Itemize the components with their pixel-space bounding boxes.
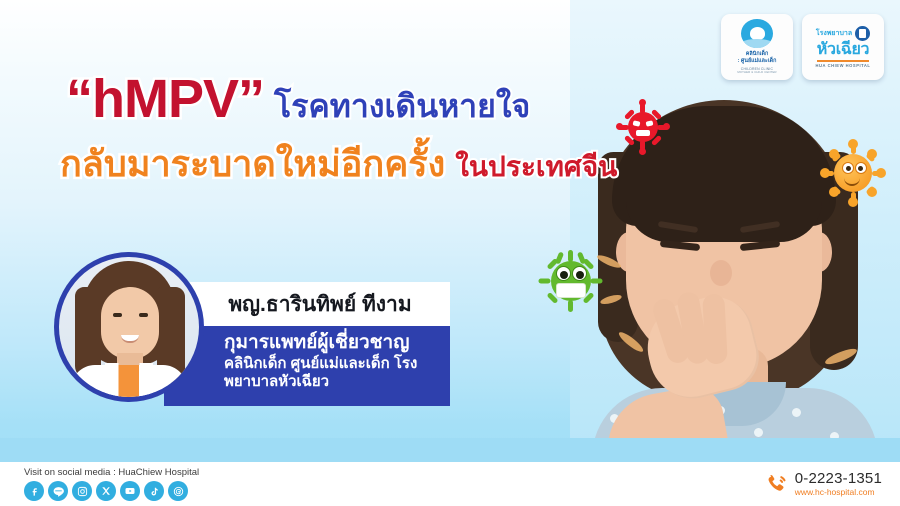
virus-face-mask bbox=[556, 283, 586, 298]
clinic-th-line2: : ศูนย์แม่และเด็ก bbox=[738, 58, 777, 65]
hospital-th-main: หัวเฉียว bbox=[817, 42, 869, 58]
tiktok-icon[interactable] bbox=[144, 481, 164, 501]
logo-divider bbox=[817, 60, 869, 62]
social-icon-row bbox=[24, 481, 199, 501]
footer-contact-group: 0-2223-1351 www.hc-hospital.com bbox=[764, 471, 882, 498]
headline-outbreak: กลับมาระบาดใหม่อีกครั้ง bbox=[60, 146, 445, 182]
headline-location: ในประเทศจีน bbox=[455, 153, 617, 181]
footer-bar: Visit on social media : HuaChiew Hospita… bbox=[0, 462, 900, 506]
headline-hmpv: “hMPV” bbox=[66, 72, 264, 126]
doctor-eye-right bbox=[139, 313, 148, 317]
health-advisory-banner: คลินิกเด็ก : ศูนย์แม่และเด็ก CHILDREN CL… bbox=[0, 0, 900, 506]
doctor-name: พญ.ธารินทิพย์ ทีงาม bbox=[228, 288, 411, 321]
footer-social-group: Visit on social media : HuaChiew Hospita… bbox=[24, 467, 199, 501]
child-finger bbox=[702, 293, 728, 364]
virus-body bbox=[834, 154, 872, 192]
doctor-face bbox=[101, 287, 159, 359]
doctor-avatar bbox=[54, 252, 204, 402]
threads-icon[interactable] bbox=[168, 481, 188, 501]
x-twitter-icon[interactable] bbox=[96, 481, 116, 501]
hua-chiew-hospital-logo[interactable]: โรงพยาบาล หัวเฉียว HUA CHIEW HOSPITAL bbox=[802, 14, 884, 80]
hospital-logo-top: โรงพยาบาล bbox=[816, 26, 870, 41]
virus-body bbox=[628, 112, 658, 142]
visit-social-label: Visit on social media : HuaChiew Hospita… bbox=[24, 467, 199, 478]
clinic-en-line2: MOTHER & CHILD CENTER bbox=[737, 71, 776, 75]
line-icon[interactable] bbox=[48, 481, 68, 501]
phone-ringing-icon bbox=[764, 472, 788, 496]
child-nose bbox=[710, 260, 732, 286]
youtube-icon[interactable] bbox=[120, 481, 140, 501]
facebook-icon[interactable] bbox=[24, 481, 44, 501]
phone-number[interactable]: 0-2223-1351 bbox=[795, 471, 882, 488]
doctor-portrait bbox=[59, 257, 199, 397]
angry-red-virus bbox=[620, 104, 666, 150]
baby-clinic-icon bbox=[741, 19, 773, 48]
orange-virus-character bbox=[822, 142, 884, 204]
website-url[interactable]: www.hc-hospital.com bbox=[795, 487, 882, 497]
logo-group: คลินิกเด็ก : ศูนย์แม่และเด็ก CHILDREN CL… bbox=[721, 14, 884, 80]
doctor-affiliation: คลินิกเด็ก ศูนย์แม่และเด็ก โรงพยาบาลหัวเ… bbox=[224, 355, 450, 391]
hospital-th-prefix: โรงพยาบาล bbox=[816, 28, 852, 39]
cyan-divider-band bbox=[0, 438, 900, 462]
virus-mouth bbox=[636, 130, 650, 136]
hospital-shield-icon bbox=[855, 26, 870, 41]
doctor-credentials-panel: กุมารแพทย์ผู้เชี่ยวชาญ คลินิกเด็ก ศูนย์แ… bbox=[164, 326, 450, 406]
headline-line-1: “hMPV” โรคทางเดินหายใจ bbox=[0, 72, 660, 126]
instagram-icon[interactable] bbox=[72, 481, 92, 501]
hospital-en-name: HUA CHIEW HOSPITAL bbox=[816, 63, 871, 68]
doctor-lab-coat bbox=[71, 365, 187, 397]
headline-line-2: กลับมาระบาดใหม่อีกครั้ง ในประเทศจีน bbox=[0, 146, 660, 182]
headline-block: “hMPV” โรคทางเดินหายใจ กลับมาระบาดใหม่อี… bbox=[0, 72, 660, 182]
doctor-name-plate: พญ.ธารินทิพย์ ทีงาม bbox=[190, 282, 450, 326]
green-virus-with-mask bbox=[540, 250, 602, 312]
doctor-specialty: กุมารแพทย์ผู้เชี่ยวชาญ bbox=[224, 332, 450, 354]
contact-text-group: 0-2223-1351 www.hc-hospital.com bbox=[795, 471, 882, 498]
doctor-eye-left bbox=[113, 313, 122, 317]
headline-subtitle-1: โรคทางเดินหายใจ bbox=[274, 90, 530, 122]
children-clinic-logo[interactable]: คลินิกเด็ก : ศูนย์แม่และเด็ก CHILDREN CL… bbox=[721, 14, 793, 80]
